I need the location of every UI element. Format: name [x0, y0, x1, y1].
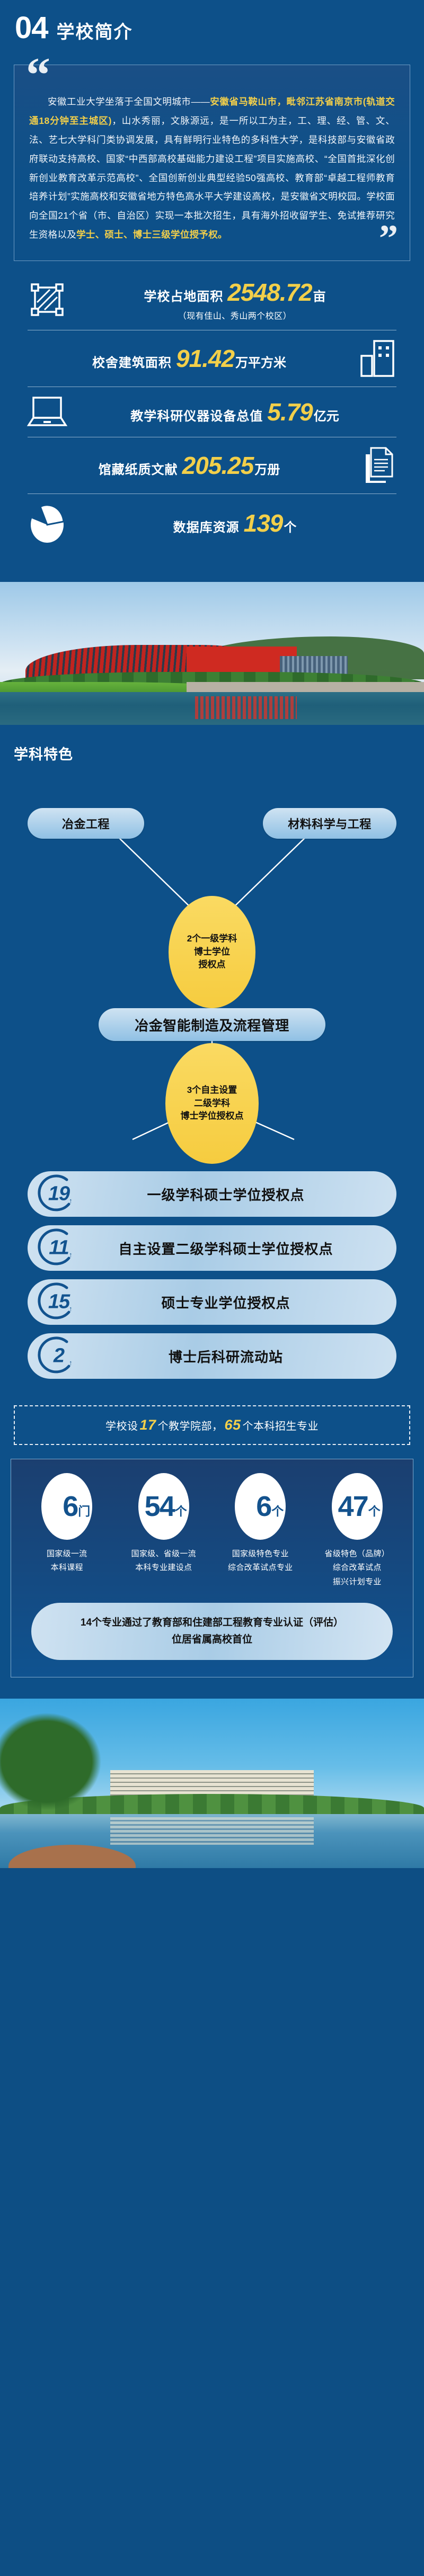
degree-bar[interactable]: 15↑硕士专业学位授权点: [28, 1279, 396, 1325]
bar-circle-badge: 19↑: [28, 1171, 87, 1217]
stat-row: 教学科研仪器设备总值5.79亿元: [0, 387, 424, 437]
program-stat-unit: 个: [175, 1501, 187, 1519]
quote-open-icon: “: [26, 50, 48, 99]
stat-divider: [28, 387, 396, 387]
stat-text: 数据库资源139个: [70, 509, 400, 537]
note-post: 个本科招生专业: [243, 1421, 319, 1432]
program-stats-panel: 6门国家级一流本科课程54个国家级、省级一流本科专业建设点6个国家级特色专业综合…: [11, 1459, 413, 1677]
intro-text-run-0: 安徽工业大学坐落于全国文明城市——: [48, 96, 210, 107]
discipline-diagram: 冶金工程 材料科学与工程 2个一级学科 博士学位 授权点 冶金智能制造及流程管理…: [0, 775, 424, 1167]
bar-number: 15: [39, 1291, 78, 1314]
stat-unit: 亩: [313, 286, 326, 304]
laptop-icon: [24, 396, 70, 428]
infographic-page: 04 学校简介 “ 安徽工业大学坐落于全国文明城市——安徽省马鞍山市，毗邻江苏省…: [0, 0, 424, 1868]
stat-divider: [28, 330, 396, 330]
bar-unit: ↑: [69, 1251, 73, 1259]
stat-line: 教学科研仪器设备总值5.79亿元: [70, 398, 400, 426]
stat-label: 数据库资源: [173, 517, 240, 535]
intro-paragraph: 安徽工业大学坐落于全国文明城市——安徽省马鞍山市，毗邻江苏省南京市(轨道交通18…: [29, 93, 395, 245]
degree-authorization-bars: 19↑一级学科硕士学位授权点11↑自主设置二级学科硕士学位授权点15↑硕士专业学…: [0, 1167, 424, 1396]
bar-circle-badge: 11↑: [28, 1225, 87, 1271]
building-icon: [354, 339, 400, 378]
stat-row: 馆藏纸质文献205.25万册: [0, 437, 424, 493]
stat-label: 校舍建筑面积: [92, 352, 172, 371]
program-stat-column: 54个国家级、省级一流本科专业建设点: [119, 1473, 209, 1575]
program-stats-columns: 6门国家级一流本科课程54个国家级、省级一流本科专业建设点6个国家级特色专业综合…: [19, 1473, 405, 1589]
stat-value: 5.79: [267, 398, 313, 426]
stat-divider: [28, 437, 396, 437]
section-number: 04: [15, 14, 48, 42]
bar-number: 2: [39, 1345, 78, 1368]
bar-label: 硕士专业学位授权点: [87, 1293, 396, 1312]
program-stat-oval: 6门: [41, 1473, 92, 1540]
program-stat-value: 47: [338, 1490, 368, 1523]
program-stat-caption: 国家级特色专业综合改革试点专业: [228, 1547, 293, 1575]
pie-chart-icon: [24, 502, 70, 544]
pill-materials-science-engineering[interactable]: 材料科学与工程: [263, 808, 396, 839]
intro-text-run-3: 学士、硕士、博士三级学位授予权。: [76, 229, 227, 240]
stat-line: 馆藏纸质文献205.25万册: [24, 451, 354, 480]
oval-top-line-1: 2个一级学科: [187, 932, 237, 946]
program-stat-unit: 个: [271, 1501, 284, 1519]
bar-circle-badge: 15↑: [28, 1279, 87, 1325]
intro-text-run-2: ，山水秀丽，文脉源远，是一所以工为主，工、理、经、管、文、法、艺七大学科门类协调…: [29, 115, 395, 240]
oval-top-line-3: 授权点: [199, 958, 226, 972]
campus-stadium-photo: [0, 582, 424, 725]
stat-unit: 万册: [254, 459, 280, 478]
colleges-majors-note: 学校设17个教学院部，65个本科招生专业: [14, 1405, 410, 1445]
program-stat-oval: 54个: [138, 1473, 189, 1540]
stat-text: 校舍建筑面积91.42万平方米: [24, 344, 354, 373]
program-stat-oval: 6个: [235, 1473, 286, 1540]
oval-self-set-second-level-doctoral[interactable]: 3个自主设置 二级学科 博士学位授权点: [165, 1043, 259, 1164]
stat-label: 教学科研仪器设备总值: [130, 406, 263, 424]
note-colleges-count: 17: [138, 1417, 157, 1433]
pill-metallurgy-engineering[interactable]: 冶金工程: [28, 808, 144, 839]
stat-value: 205.25: [182, 451, 254, 480]
discipline-section-title: 学科特色: [0, 743, 424, 764]
bar-number: 19: [39, 1183, 78, 1206]
oval-bottom-line-3: 博士学位授权点: [181, 1110, 244, 1123]
program-stat-column: 6门国家级一流本科课程: [22, 1473, 112, 1575]
oval-bottom-line-2: 二级学科: [194, 1097, 230, 1110]
program-stat-caption: 国家级一流本科课程: [47, 1547, 87, 1575]
note-pre: 学校设: [105, 1421, 138, 1432]
bar-circle-badge: 2↑: [28, 1333, 87, 1379]
stat-line: 学校占地面积2548.72亩: [70, 278, 400, 307]
program-stat-oval: 47个: [332, 1473, 383, 1540]
degree-bar[interactable]: 11↑自主设置二级学科硕士学位授权点: [28, 1225, 396, 1271]
note-majors-count: 65: [223, 1417, 243, 1433]
program-stat-unit: 门: [78, 1501, 90, 1519]
section-school-intro: 04 学校简介 “ 安徽工业大学坐落于全国文明城市——安徽省马鞍山市，毗邻江苏省…: [0, 0, 424, 582]
stat-text: 馆藏纸质文献205.25万册: [24, 451, 354, 480]
statistics-list: 学校占地面积2548.72亩（现有佳山、秀山两个校区）校舍建筑面积91.42万平…: [0, 261, 424, 568]
documents-icon: [354, 446, 400, 485]
degree-bar[interactable]: 19↑一级学科硕士学位授权点: [28, 1171, 396, 1217]
bar-label: 自主设置二级学科硕士学位授权点: [87, 1238, 396, 1258]
stat-row: 学校占地面积2548.72亩（现有佳山、秀山两个校区）: [0, 270, 424, 330]
intro-quote-box: “ 安徽工业大学坐落于全国文明城市——安徽省马鞍山市，毗邻江苏省南京市(轨道交通…: [14, 65, 410, 261]
section-discipline-features: 学科特色 冶金工程 材料科学与工程 2个一级学科 博士学位 授权点 冶金智能制造…: [0, 725, 424, 1699]
oval-bottom-line-1: 3个自主设置: [187, 1084, 237, 1097]
program-stat-value: 6: [256, 1490, 271, 1523]
program-stat-value: 54: [145, 1490, 174, 1523]
bar-unit: ↑: [69, 1305, 73, 1313]
bar-unit: ↑: [69, 1197, 73, 1205]
stat-divider: [28, 493, 396, 494]
program-stat-caption: 省级特色（品牌）综合改革试点振兴计划专业: [325, 1547, 390, 1589]
program-stat-value: 6: [63, 1490, 77, 1523]
quote-close-icon: ”: [379, 219, 396, 257]
bar-number: 11: [39, 1237, 78, 1260]
program-stat-column: 47个省级特色（品牌）综合改革试点振兴计划专业: [312, 1473, 402, 1589]
note-mid: 个教学院部，: [158, 1421, 223, 1432]
stat-label: 学校占地面积: [144, 286, 223, 304]
stat-value: 91.42: [176, 344, 234, 373]
stat-line: 数据库资源139个: [70, 509, 400, 537]
stat-unit: 亿元: [314, 406, 339, 424]
campus-lake-photo: [0, 1699, 424, 1868]
bar-label: 一级学科硕士学位授权点: [87, 1184, 396, 1204]
program-stat-caption: 国家级、省级一流本科专业建设点: [131, 1547, 196, 1575]
stat-value: 2548.72: [227, 278, 312, 307]
stat-unit: 万平方米: [235, 352, 286, 371]
pill-metallurgy-smart-manufacturing[interactable]: 冶金智能制造及流程管理: [99, 1008, 325, 1041]
bar-unit: ↑: [69, 1359, 73, 1367]
accreditation-note: 14个专业通过了教育部和住建部工程教育专业认证（评估）位居省属高校首位: [31, 1603, 393, 1661]
land-area-icon: [24, 281, 70, 318]
stat-unit: 个: [284, 517, 296, 535]
stat-row: 数据库资源139个: [0, 494, 424, 552]
oval-top-line-2: 博士学位: [194, 946, 230, 959]
stat-value: 139: [244, 509, 283, 537]
stat-text: 学校占地面积2548.72亩（现有佳山、秀山两个校区）: [70, 278, 400, 321]
oval-first-level-doctoral[interactable]: 2个一级学科 博士学位 授权点: [169, 896, 255, 1008]
stat-line: 校舍建筑面积91.42万平方米: [24, 344, 354, 373]
bar-label: 博士后科研流动站: [87, 1347, 396, 1366]
section-header: 04 学校简介: [0, 0, 424, 43]
stat-label: 馆藏纸质文献: [99, 459, 178, 478]
program-stat-unit: 个: [368, 1501, 381, 1519]
stat-subtitle: （现有佳山、秀山两个校区）: [70, 309, 400, 321]
stat-text: 教学科研仪器设备总值5.79亿元: [70, 398, 400, 426]
stat-row: 校舍建筑面积91.42万平方米: [0, 330, 424, 387]
page-title: 学校简介: [57, 17, 133, 43]
degree-bar[interactable]: 2↑博士后科研流动站: [28, 1333, 396, 1379]
program-stat-column: 6个国家级特色专业综合改革试点专业: [215, 1473, 305, 1575]
